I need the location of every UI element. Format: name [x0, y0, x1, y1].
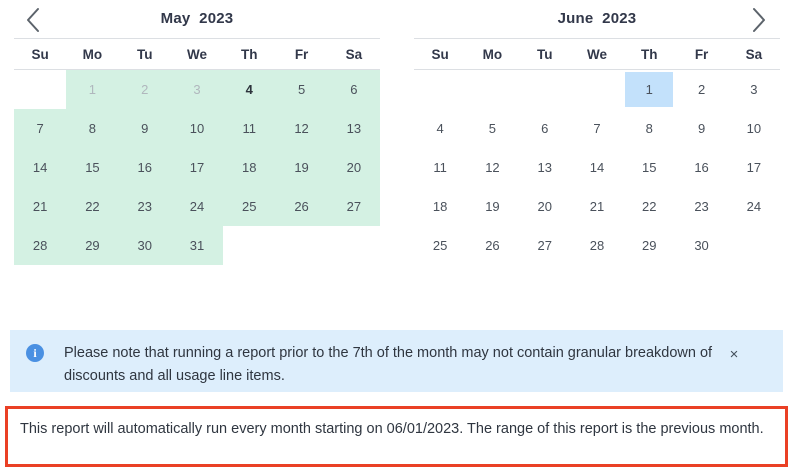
calendar-day-empty — [223, 226, 275, 265]
calendar-day-number: 9 — [141, 122, 148, 135]
calendar-day-number: 8 — [89, 122, 96, 135]
calendar-day[interactable]: 19 — [275, 148, 327, 187]
calendar-week-row: 252627282930 — [414, 226, 780, 265]
calendar-day-number: 16 — [137, 161, 151, 174]
calendar-day[interactable]: 13 — [519, 148, 571, 187]
weeks-grid-right: 1234567891011121314151617181920212223242… — [414, 70, 780, 265]
calendar-day[interactable]: 27 — [328, 187, 380, 226]
calendar-day-number: 6 — [350, 83, 357, 96]
calendar-day[interactable]: 23 — [675, 187, 727, 226]
calendar-day[interactable]: 18 — [223, 148, 275, 187]
date-range-picker: May 2023 Su Mo Tu We Th Fr Sa 1234567891… — [0, 0, 793, 320]
calendar-day[interactable]: 18 — [414, 187, 466, 226]
calendar-day[interactable]: 30 — [675, 226, 727, 265]
calendar-day-number: 14 — [33, 161, 47, 174]
calendar-day-number: 23 — [694, 200, 708, 213]
calendar-day-number: 26 — [485, 239, 499, 252]
month-panel-left: May 2023 Su Mo Tu We Th Fr Sa 1234567891… — [14, 0, 380, 265]
calendar-day-number: 16 — [694, 161, 708, 174]
calendar-day[interactable]: 15 — [66, 148, 118, 187]
weekday-su: Su — [14, 39, 66, 69]
calendar-day-number: 29 — [85, 239, 99, 252]
month-title-left: May 2023 — [14, 0, 380, 38]
calendar-day[interactable]: 4 — [223, 70, 275, 109]
calendar-day[interactable]: 21 — [571, 187, 623, 226]
weekday-we: We — [571, 39, 623, 69]
calendar-day[interactable]: 19 — [466, 187, 518, 226]
calendar-day[interactable]: 11 — [414, 148, 466, 187]
calendar-day[interactable]: 9 — [675, 109, 727, 148]
calendar-day-number: 8 — [646, 122, 653, 135]
calendar-day-number: 23 — [137, 200, 151, 213]
close-icon[interactable]: × — [724, 344, 744, 364]
weekday-we: We — [171, 39, 223, 69]
calendar-day-number: 5 — [298, 83, 305, 96]
calendar-day[interactable]: 1 — [623, 70, 675, 109]
weekday-su: Su — [414, 39, 466, 69]
calendar-day[interactable]: 17 — [728, 148, 780, 187]
calendar-day-number: 7 — [593, 122, 600, 135]
calendar-day[interactable]: 28 — [14, 226, 66, 265]
calendar-day-number: 10 — [190, 122, 204, 135]
calendar-day[interactable]: 29 — [623, 226, 675, 265]
calendar-day-number: 25 — [242, 200, 256, 213]
weekday-sa: Sa — [328, 39, 380, 69]
calendar-day[interactable]: 13 — [328, 109, 380, 148]
weekday-fr: Fr — [275, 39, 327, 69]
calendar-day-number: 27 — [347, 200, 361, 213]
calendar-day-number: 25 — [433, 239, 447, 252]
calendar-day-empty — [328, 226, 380, 265]
calendar-day[interactable]: 5 — [275, 70, 327, 109]
weekday-th: Th — [623, 39, 675, 69]
calendar-day-number: 15 — [85, 161, 99, 174]
calendar-day[interactable]: 8 — [66, 109, 118, 148]
calendar-day[interactable]: 24 — [171, 187, 223, 226]
calendar-day[interactable]: 4 — [414, 109, 466, 148]
calendar-week-row: 78910111213 — [14, 109, 380, 148]
calendar-day-number: 18 — [242, 161, 256, 174]
calendar-day[interactable]: 7 — [14, 109, 66, 148]
weekday-sa: Sa — [728, 39, 780, 69]
calendar-day[interactable]: 20 — [328, 148, 380, 187]
calendar-week-row: 123456 — [14, 70, 380, 109]
info-banner-message: Please note that running a report prior … — [64, 342, 724, 388]
calendar-day-number: 19 — [485, 200, 499, 213]
calendar-week-row: 21222324252627 — [14, 187, 380, 226]
weekday-tu: Tu — [119, 39, 171, 69]
calendar-day[interactable]: 26 — [466, 226, 518, 265]
calendar-day-number: 19 — [294, 161, 308, 174]
calendar-week-row: 123 — [414, 70, 780, 109]
calendar-day[interactable]: 1 — [66, 70, 118, 109]
calendar-day[interactable]: 2 — [119, 70, 171, 109]
calendar-week-row: 14151617181920 — [14, 148, 380, 187]
calendar-week-row: 45678910 — [414, 109, 780, 148]
calendar-day-number: 24 — [747, 200, 761, 213]
calendar-day[interactable]: 12 — [275, 109, 327, 148]
calendar-day-number: 28 — [33, 239, 47, 252]
calendar-day[interactable]: 31 — [171, 226, 223, 265]
calendar-day-number: 12 — [485, 161, 499, 174]
month-panel-right: June 2023 Su Mo Tu We Th Fr Sa 123456789… — [414, 0, 780, 265]
info-banner: i Please note that running a report prio… — [10, 330, 783, 392]
calendar-day-empty — [728, 226, 780, 265]
calendar-day-number: 4 — [437, 122, 444, 135]
calendar-day-number: 4 — [246, 83, 253, 96]
calendar-day[interactable]: 17 — [171, 148, 223, 187]
calendar-week-row: 18192021222324 — [414, 187, 780, 226]
weekday-header-right: Su Mo Tu We Th Fr Sa — [414, 38, 780, 70]
calendar-day-number: 2 — [698, 83, 705, 96]
calendar-day-number: 6 — [541, 122, 548, 135]
calendar-day-number: 24 — [190, 200, 204, 213]
calendar-day[interactable]: 21 — [14, 187, 66, 226]
calendar-day-number: 20 — [537, 200, 551, 213]
weekday-mo: Mo — [66, 39, 118, 69]
calendar-day-number: 15 — [642, 161, 656, 174]
months-container: May 2023 Su Mo Tu We Th Fr Sa 1234567891… — [0, 0, 793, 265]
schedule-note-text: This report will automatically run every… — [20, 421, 764, 437]
calendar-day-number: 30 — [694, 239, 708, 252]
calendar-day-number: 30 — [137, 239, 151, 252]
calendar-day[interactable]: 28 — [571, 226, 623, 265]
calendar-day[interactable]: 25 — [223, 187, 275, 226]
calendar-day-number: 12 — [294, 122, 308, 135]
calendar-day-number: 31 — [190, 239, 204, 252]
calendar-day-number: 21 — [33, 200, 47, 213]
calendar-day[interactable]: 7 — [571, 109, 623, 148]
calendar-day-number: 1 — [625, 72, 673, 107]
calendar-day[interactable]: 22 — [66, 187, 118, 226]
calendar-day[interactable]: 14 — [14, 148, 66, 187]
calendar-day-number: 13 — [537, 161, 551, 174]
calendar-day-number: 13 — [347, 122, 361, 135]
calendar-day[interactable]: 2 — [675, 70, 727, 109]
calendar-day[interactable]: 11 — [223, 109, 275, 148]
weekday-th: Th — [223, 39, 275, 69]
calendar-day-number: 18 — [433, 200, 447, 213]
calendar-day-number: 26 — [294, 200, 308, 213]
calendar-day[interactable]: 6 — [328, 70, 380, 109]
calendar-day-number: 27 — [537, 239, 551, 252]
calendar-day[interactable]: 10 — [728, 109, 780, 148]
calendar-day-number: 22 — [642, 200, 656, 213]
weekday-mo: Mo — [466, 39, 518, 69]
calendar-day-number: 17 — [747, 161, 761, 174]
calendar-day-empty — [466, 70, 518, 109]
calendar-day[interactable]: 16 — [675, 148, 727, 187]
calendar-day-empty — [14, 70, 66, 109]
calendar-day-number: 3 — [193, 83, 200, 96]
calendar-day-number: 3 — [750, 83, 757, 96]
schedule-note: This report will automatically run every… — [5, 406, 788, 467]
calendar-day[interactable]: 23 — [119, 187, 171, 226]
calendar-day[interactable]: 24 — [728, 187, 780, 226]
calendar-day[interactable]: 22 — [623, 187, 675, 226]
calendar-day-empty — [571, 70, 623, 109]
calendar-day[interactable]: 8 — [623, 109, 675, 148]
calendar-day[interactable]: 10 — [171, 109, 223, 148]
weeks-grid-left: 1234567891011121314151617181920212223242… — [14, 70, 380, 265]
calendar-day[interactable]: 3 — [171, 70, 223, 109]
calendar-day-number: 11 — [433, 161, 447, 174]
calendar-day-number: 1 — [89, 83, 96, 96]
info-circle-icon: i — [26, 344, 44, 362]
calendar-day[interactable]: 30 — [119, 226, 171, 265]
calendar-day-number: 20 — [347, 161, 361, 174]
calendar-day-empty — [414, 70, 466, 109]
calendar-day-number: 21 — [590, 200, 604, 213]
calendar-week-row: 28293031 — [14, 226, 380, 265]
calendar-day-number: 17 — [190, 161, 204, 174]
calendar-day-number: 9 — [698, 122, 705, 135]
calendar-day-empty — [275, 226, 327, 265]
calendar-day[interactable]: 25 — [414, 226, 466, 265]
calendar-day-number: 14 — [590, 161, 604, 174]
calendar-day[interactable]: 29 — [66, 226, 118, 265]
weekday-fr: Fr — [675, 39, 727, 69]
calendar-week-row: 11121314151617 — [414, 148, 780, 187]
calendar-day-number: 29 — [642, 239, 656, 252]
calendar-day-number: 28 — [590, 239, 604, 252]
calendar-day-number: 7 — [37, 122, 44, 135]
calendar-day[interactable]: 15 — [623, 148, 675, 187]
calendar-day[interactable]: 26 — [275, 187, 327, 226]
calendar-day-number: 22 — [85, 200, 99, 213]
calendar-day[interactable]: 16 — [119, 148, 171, 187]
month-title-right: June 2023 — [414, 0, 780, 38]
calendar-day-empty — [519, 70, 571, 109]
calendar-day[interactable]: 14 — [571, 148, 623, 187]
weekday-header-left: Su Mo Tu We Th Fr Sa — [14, 38, 380, 70]
calendar-day-number: 11 — [243, 122, 257, 135]
weekday-tu: Tu — [519, 39, 571, 69]
calendar-day[interactable]: 6 — [519, 109, 571, 148]
calendar-day[interactable]: 9 — [119, 109, 171, 148]
calendar-day[interactable]: 27 — [519, 226, 571, 265]
calendar-day[interactable]: 12 — [466, 148, 518, 187]
calendar-day[interactable]: 3 — [728, 70, 780, 109]
calendar-day-number: 10 — [747, 122, 761, 135]
calendar-day[interactable]: 20 — [519, 187, 571, 226]
calendar-day-number: 5 — [489, 122, 496, 135]
calendar-day-number: 2 — [141, 83, 148, 96]
calendar-day[interactable]: 5 — [466, 109, 518, 148]
